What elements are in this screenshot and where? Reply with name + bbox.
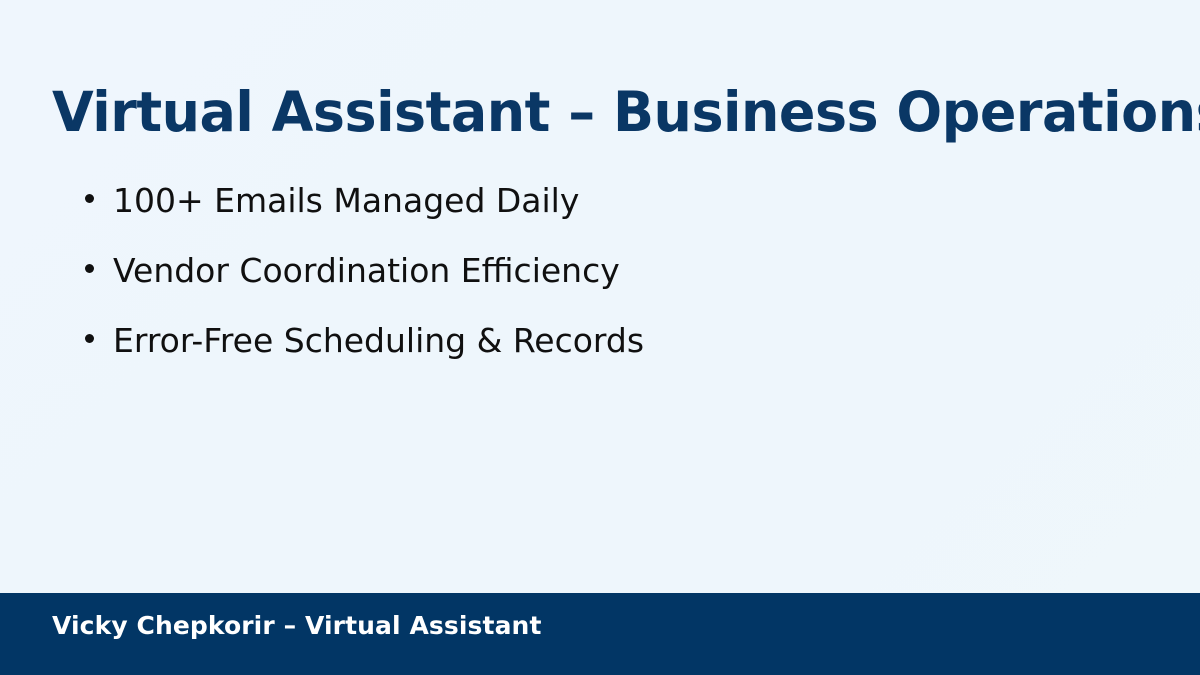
- list-item-label: Error-Free Scheduling & Records: [113, 316, 644, 366]
- slide-title: Virtual Assistant – Business Operations: [52, 84, 1140, 142]
- list-item: Vendor Coordination Efficiency: [80, 246, 1140, 316]
- presentation-slide: Virtual Assistant – Business Operations …: [0, 0, 1200, 675]
- bullet-list: 100+ Emails Managed Daily Vendor Coordin…: [80, 176, 1140, 386]
- bullet-dot-icon: [85, 334, 94, 343]
- footer-label: Vicky Chepkorir – Virtual Assistant: [52, 611, 542, 640]
- list-item: 100+ Emails Managed Daily: [80, 176, 1140, 246]
- slide-footer-bar: Vicky Chepkorir – Virtual Assistant: [0, 593, 1200, 675]
- bullet-dot-icon: [85, 264, 94, 273]
- list-item: Error-Free Scheduling & Records: [80, 316, 1140, 386]
- list-item-label: Vendor Coordination Efficiency: [113, 246, 620, 296]
- bullet-dot-icon: [85, 194, 94, 203]
- list-item-label: 100+ Emails Managed Daily: [113, 176, 579, 226]
